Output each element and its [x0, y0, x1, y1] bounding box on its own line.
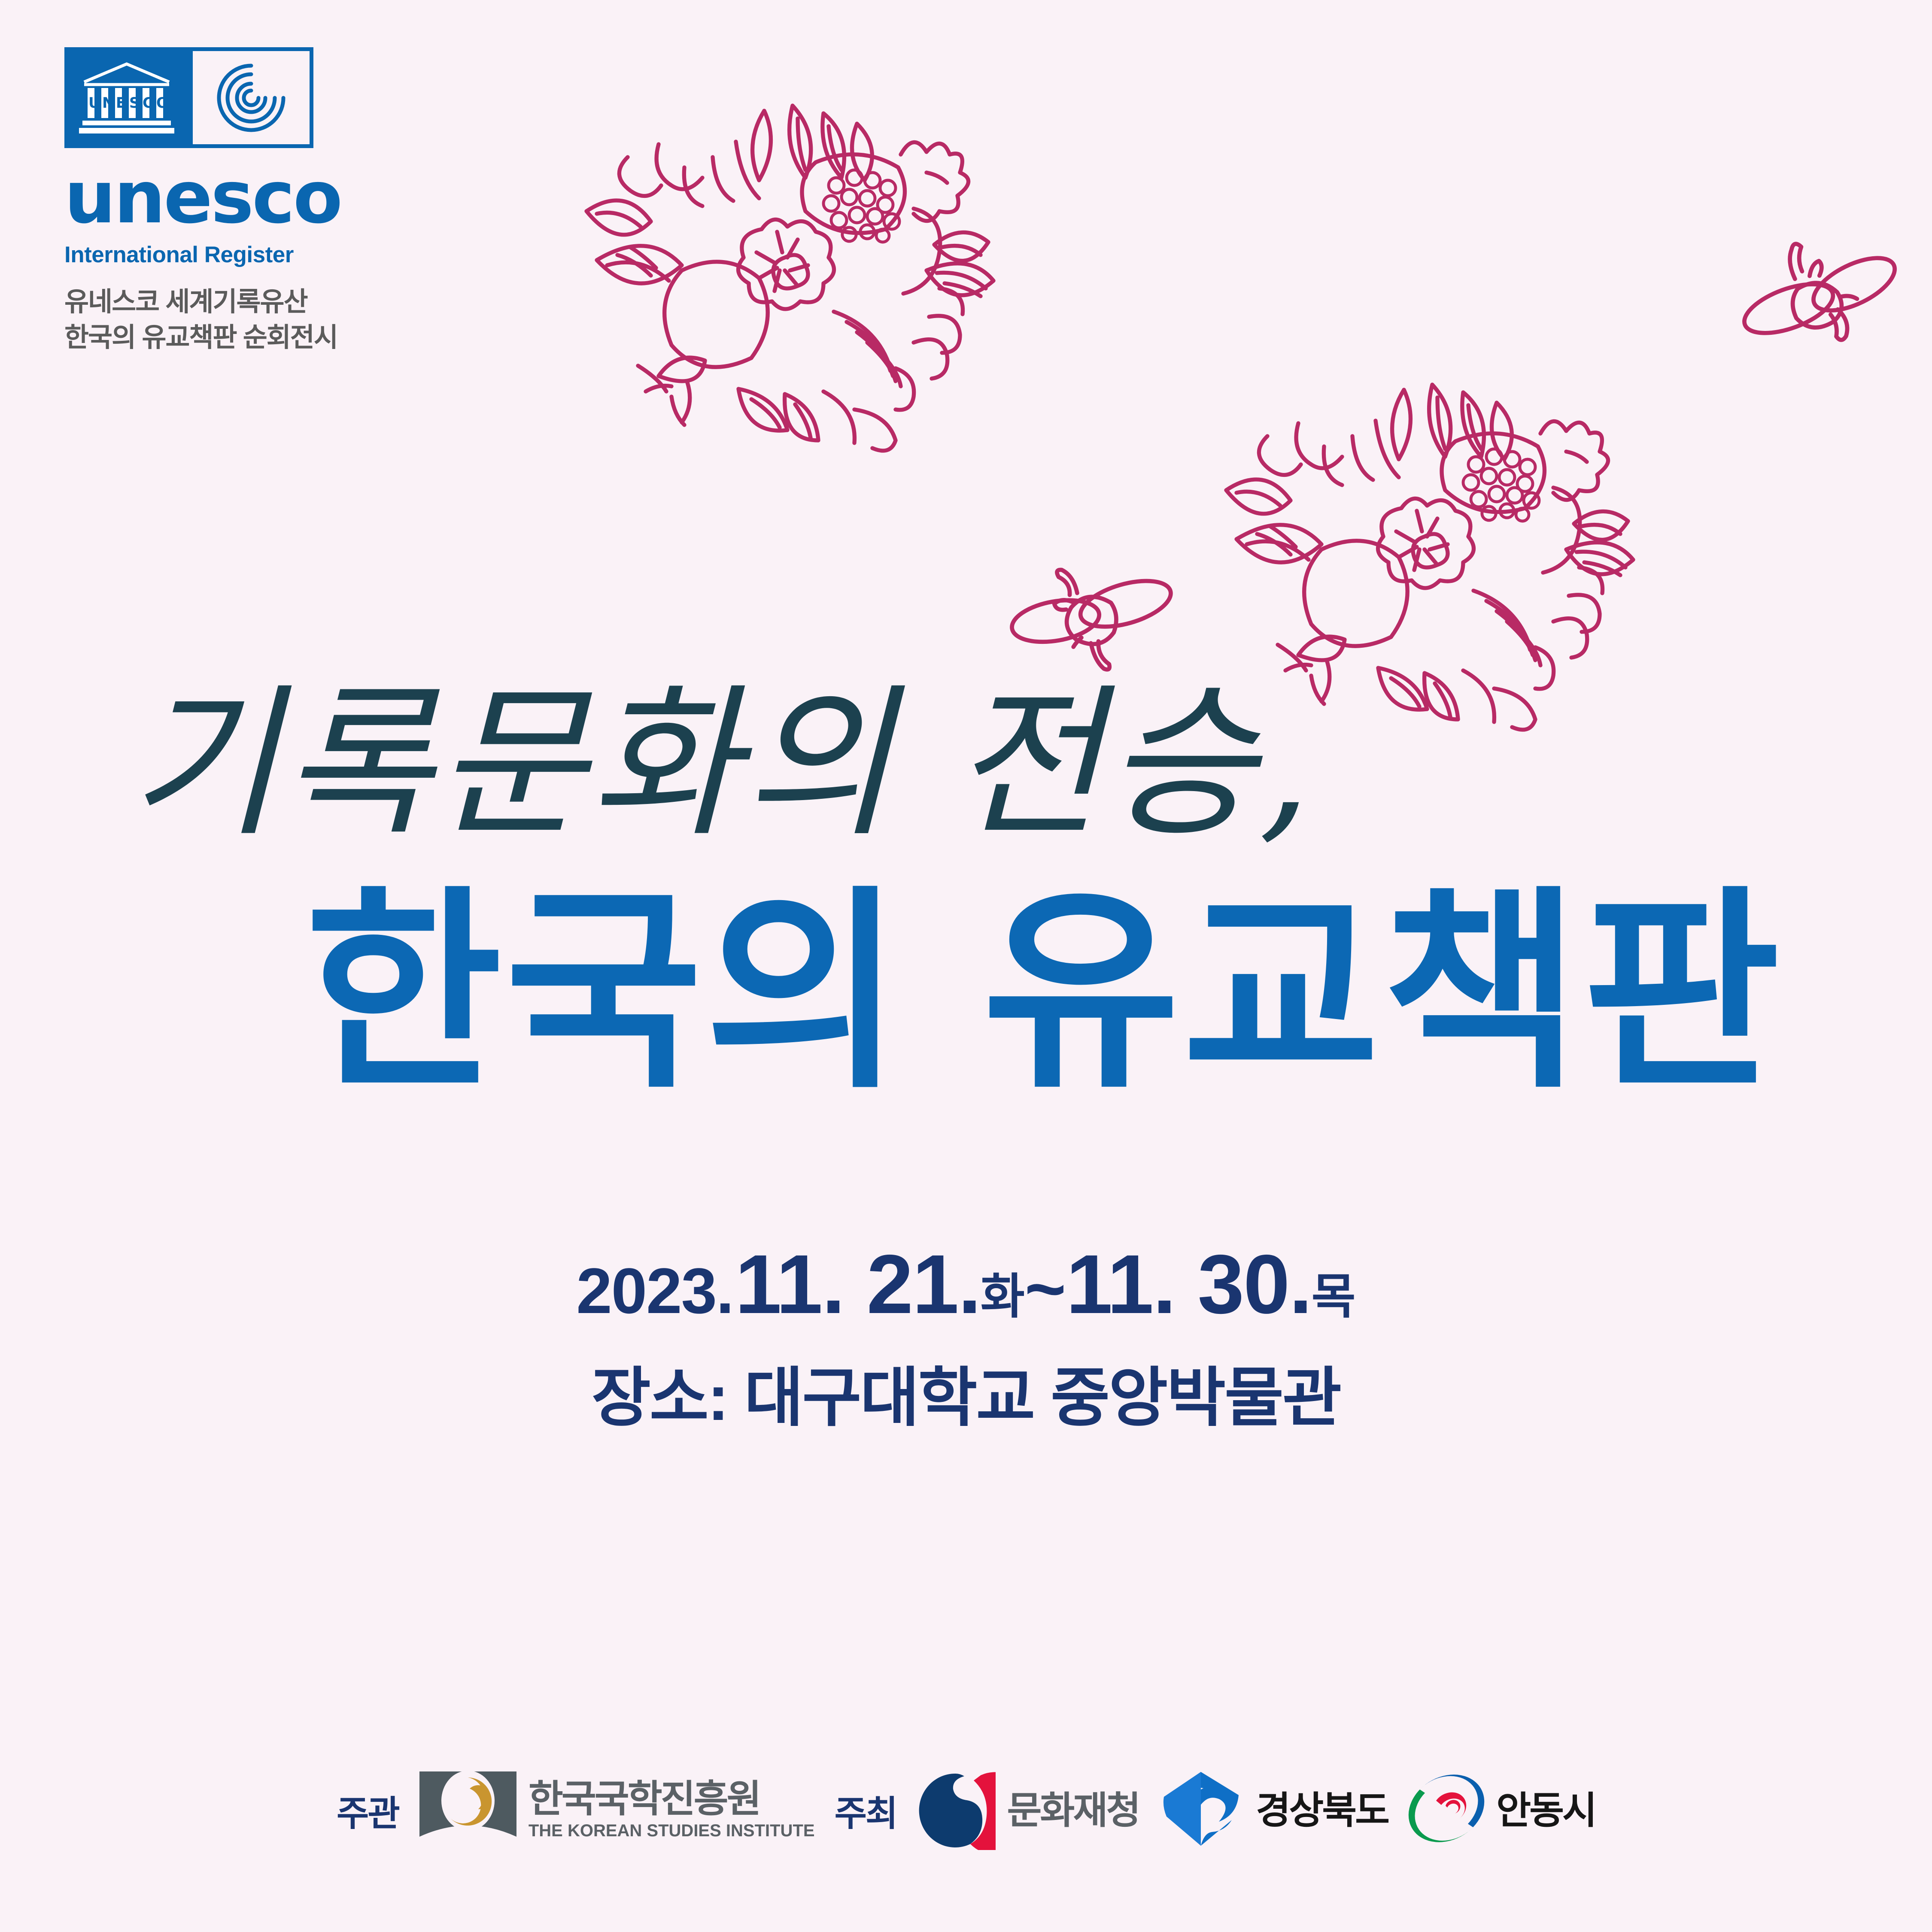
pomegranate-floral-motif: [558, 77, 996, 515]
unesco-international-register-label: International Register: [64, 242, 494, 268]
date-end-weekday: 목: [1312, 1270, 1356, 1323]
logo-korean-studies-institute: 한국국학진흥원 THE KOREAN STUDIES INSTITUTE: [419, 1770, 815, 1851]
korean-studies-institute-book-icon: [419, 1770, 517, 1851]
unesco-temple-icon: U N E S C O: [64, 47, 189, 148]
andong-city-swirl-icon: [1408, 1771, 1485, 1850]
exhibition-venue: 장소: 대구대학교 중앙박물관: [0, 1346, 1932, 1439]
svg-text:O: O: [156, 94, 169, 112]
logo-cultural-heritage-administration: 문화재청: [916, 1768, 1139, 1852]
korean-studies-institute-english: THE KOREAN STUDIES INSTITUTE: [529, 1821, 815, 1841]
date-start: 11. 21.: [735, 1237, 981, 1331]
unesco-emblem: U N E S C O: [64, 47, 313, 148]
unesco-subtitle-line1: 유네스코 세계기록유산: [64, 284, 494, 320]
page-title-line1: 기록문화의 전승,: [129, 682, 1314, 846]
unesco-wordmark: unesco: [64, 164, 494, 232]
unesco-branding-block: U N E S C O: [64, 47, 494, 356]
exhibition-poster: U N E S C O: [0, 0, 1932, 1932]
svg-text:S: S: [129, 94, 140, 112]
korean-studies-institute-name: 한국국학진흥원: [529, 1780, 815, 1818]
svg-text:N: N: [102, 94, 114, 112]
logo-andong-city: 안동시: [1408, 1771, 1595, 1850]
unesco-subtitle-line2: 한국의 유교책판 순회전시: [64, 320, 494, 356]
svg-text:E: E: [116, 94, 126, 112]
date-end: 11. 30.: [1066, 1237, 1312, 1331]
andong-city-name: 안동시: [1496, 1792, 1595, 1829]
footer-logo-row: 주관 한국국학진흥원 THE KOREAN STUDIES INSTITUTE …: [0, 1768, 1932, 1852]
gyeongsangbuk-do-wave-icon: [1159, 1768, 1245, 1852]
page-title-line2: 한국의 유교책판: [305, 884, 1783, 1099]
exhibition-dates: 2023. 11. 21.화~11. 30.목: [0, 1236, 1932, 1332]
date-year: 2023.: [576, 1255, 733, 1327]
bee-motif: [1732, 231, 1909, 374]
logo-gyeongsangbuk-do: 경상북도: [1159, 1768, 1388, 1852]
cultural-heritage-administration-name: 문화재청: [1007, 1792, 1139, 1829]
role-label-organizer: 주최: [835, 1785, 897, 1836]
svg-text:C: C: [143, 94, 153, 112]
svg-text:U: U: [88, 94, 100, 112]
date-range-separator: ~: [1025, 1249, 1066, 1328]
korea-government-taegeuk-icon: [916, 1768, 996, 1852]
date-start-weekday: 화: [981, 1270, 1025, 1323]
gyeongsangbuk-do-name: 경상북도: [1256, 1792, 1388, 1829]
memory-of-the-world-spiral-icon: [189, 47, 313, 148]
unesco-subtitle: 유네스코 세계기록유산 한국의 유교책판 순회전시: [64, 284, 494, 356]
role-label-host: 주관: [337, 1785, 399, 1836]
